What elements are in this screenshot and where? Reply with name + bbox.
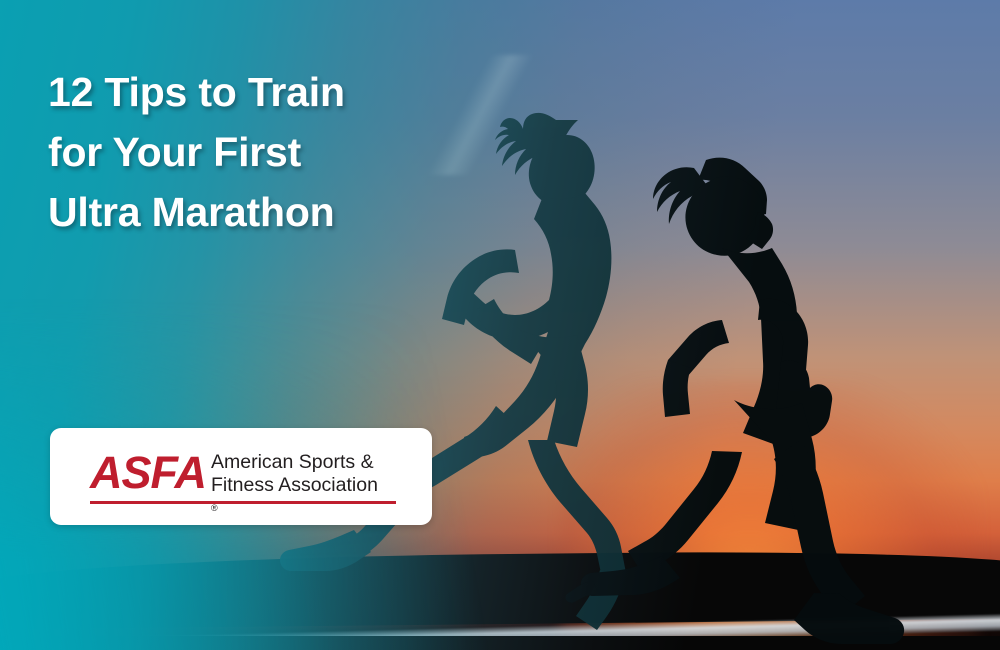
asfa-logo-card[interactable]: ASFA American Sports & Fitness Associati… <box>50 428 432 525</box>
headline-line-3: Ultra Marathon <box>48 182 345 242</box>
article-hero-banner: 12 Tips to Train for Your First Ultra Ma… <box>0 0 1000 650</box>
logo-name-line-2-text: Fitness Association <box>211 474 378 497</box>
logo-acronym: ASFA <box>90 450 206 495</box>
logo-name-line-1: American Sports & <box>211 451 378 474</box>
logo-full-name: American Sports & Fitness Association® <box>211 450 378 520</box>
logo-name-line-2: Fitness Association® <box>211 474 378 520</box>
logo-underline-rule <box>90 501 396 504</box>
page-title: 12 Tips to Train for Your First Ultra Ma… <box>48 62 345 242</box>
headline-line-1: 12 Tips to Train <box>48 62 345 122</box>
headline-line-2: for Your First <box>48 122 345 182</box>
logo-lockup: ASFA American Sports & Fitness Associati… <box>90 450 378 520</box>
